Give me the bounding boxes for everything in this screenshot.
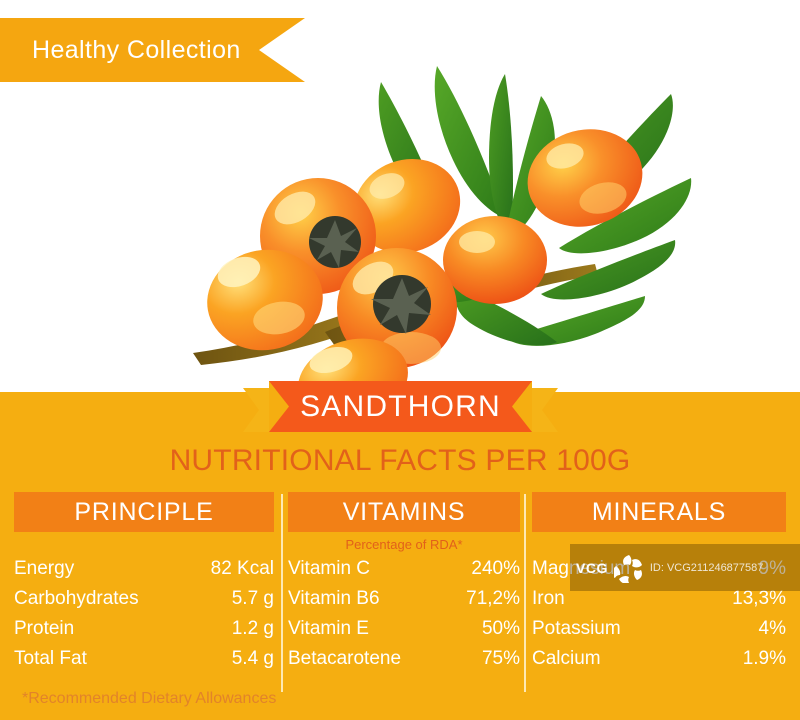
table-row: Vitamin E 50% [288, 618, 520, 648]
table-row: Magnesium 9% [532, 558, 786, 588]
column-subtitle-vitamins: Percentage of RDA* [288, 532, 520, 556]
table-row: Betacarotene 75% [288, 648, 520, 678]
table-row: Potassium 4% [532, 618, 786, 648]
ribbon-title: SANDTHORN [269, 381, 532, 432]
infographic-poster: Healthy Collection [0, 0, 800, 720]
table-row: Protein 1.2 g [14, 618, 274, 648]
table-row: Vitamin B6 71,2% [288, 588, 520, 618]
footnote: *Recommended Dietary Allowances [22, 690, 276, 708]
row-value: 13,3% [732, 588, 786, 610]
table-row: Energy 82 Kcal [14, 558, 274, 588]
column-minerals: MINERALS Magnesium 9% Iron 13,3% Potassi… [532, 492, 786, 692]
column-divider [281, 494, 283, 692]
rows-principle: Energy 82 Kcal Carbohydrates 5.7 g Prote… [14, 558, 274, 678]
row-label: Vitamin C [288, 558, 370, 580]
page-title: NUTRITIONAL FACTS PER 100G [0, 444, 800, 478]
row-value: 82 Kcal [211, 558, 274, 580]
rows-minerals: Magnesium 9% Iron 13,3% Potassium 4% Cal… [532, 558, 786, 678]
row-value: 1.9% [743, 648, 786, 670]
row-label: Vitamin B6 [288, 588, 380, 610]
row-value: 9% [759, 558, 786, 580]
row-value: 1.2 g [232, 618, 274, 640]
row-label: Iron [532, 588, 565, 610]
row-value: 4% [759, 618, 786, 640]
sandthorn-ribbon: SANDTHORN [243, 381, 558, 432]
row-value: 75% [482, 648, 520, 670]
row-label: Energy [14, 558, 74, 580]
row-label: Potassium [532, 618, 621, 640]
row-value: 5.7 g [232, 588, 274, 610]
row-label: Betacarotene [288, 648, 401, 670]
column-vitamins: VITAMINS Percentage of RDA* Vitamin C 24… [288, 492, 520, 692]
column-principle: PRINCIPLE Energy 82 Kcal Carbohydrates 5… [14, 492, 274, 692]
row-value: 50% [482, 618, 520, 640]
column-header-principle: PRINCIPLE [14, 492, 274, 532]
row-label: Calcium [532, 648, 601, 670]
row-label: Carbohydrates [14, 588, 139, 610]
column-divider [524, 494, 526, 692]
row-value: 5.4 g [232, 648, 274, 670]
row-label: Total Fat [14, 648, 87, 670]
row-value: 240% [471, 558, 520, 580]
table-row: Calcium 1.9% [532, 648, 786, 678]
sandthorn-illustration [175, 60, 695, 395]
rows-vitamins: Vitamin C 240% Vitamin B6 71,2% Vitamin … [288, 558, 520, 678]
row-label: Vitamin E [288, 618, 369, 640]
nutrition-columns: PRINCIPLE Energy 82 Kcal Carbohydrates 5… [0, 492, 800, 692]
table-row: Vitamin C 240% [288, 558, 520, 588]
table-row: Iron 13,3% [532, 588, 786, 618]
column-header-minerals: MINERALS [532, 492, 786, 532]
row-value: 71,2% [466, 588, 520, 610]
row-label: Magnesium [532, 558, 630, 580]
row-label: Protein [14, 618, 74, 640]
column-header-vitamins: VITAMINS [288, 492, 520, 532]
table-row: Carbohydrates 5.7 g [14, 588, 274, 618]
table-row: Total Fat 5.4 g [14, 648, 274, 678]
